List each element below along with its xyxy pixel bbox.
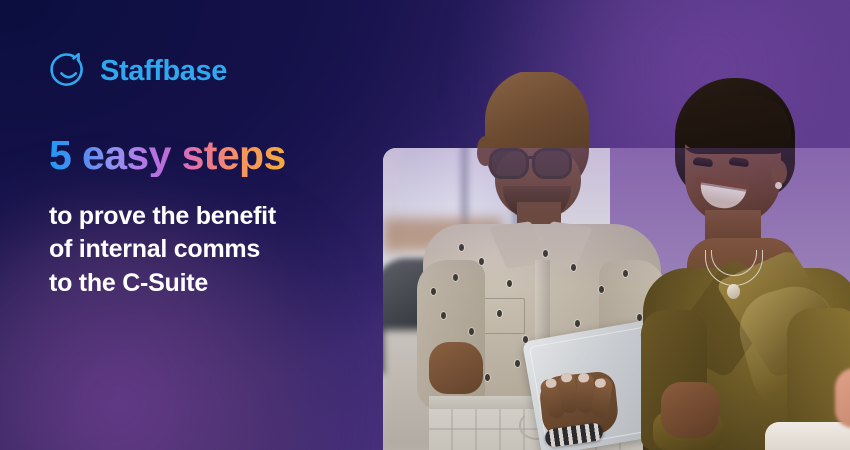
head-bleed-layer xyxy=(383,72,850,152)
staffbase-wordmark: Staffbase xyxy=(100,57,227,86)
staffbase-smiley-logo-icon xyxy=(49,51,89,91)
staffbase-logo[interactable]: Staffbase xyxy=(49,51,227,91)
glasses-lens-left-icon xyxy=(489,148,529,179)
glasses-lens-right-icon xyxy=(532,148,572,179)
subtitle-line-2: of internal comms xyxy=(49,233,276,266)
woman-figure xyxy=(649,148,850,450)
man-figure xyxy=(423,148,673,450)
woman-hairline xyxy=(681,96,791,150)
marketing-banner: Staffbase 5 easy steps to prove the bene… xyxy=(0,0,850,450)
glasses-bridge xyxy=(527,156,536,159)
woman-head-bleed xyxy=(649,78,850,152)
page-subtitle: to prove the benefit of internal comms t… xyxy=(49,200,276,300)
man-head-bleed xyxy=(423,72,673,152)
background-person-blur xyxy=(835,368,850,428)
page-title: 5 easy steps xyxy=(49,134,286,177)
man-head xyxy=(485,72,589,152)
hero-photo xyxy=(383,148,850,450)
woman-pendant xyxy=(727,284,740,299)
text-column: Staffbase 5 easy steps to prove the bene… xyxy=(0,0,390,450)
man-hand-left xyxy=(429,342,483,394)
woman-hand xyxy=(661,382,719,438)
subtitle-line-3: to the C-Suite xyxy=(49,267,276,300)
woman-hairline xyxy=(681,148,791,154)
woman-earring xyxy=(775,182,782,189)
woman-trousers xyxy=(765,422,850,450)
man-shirt-pocket xyxy=(483,298,525,334)
subtitle-line-1: to prove the benefit xyxy=(49,200,276,233)
